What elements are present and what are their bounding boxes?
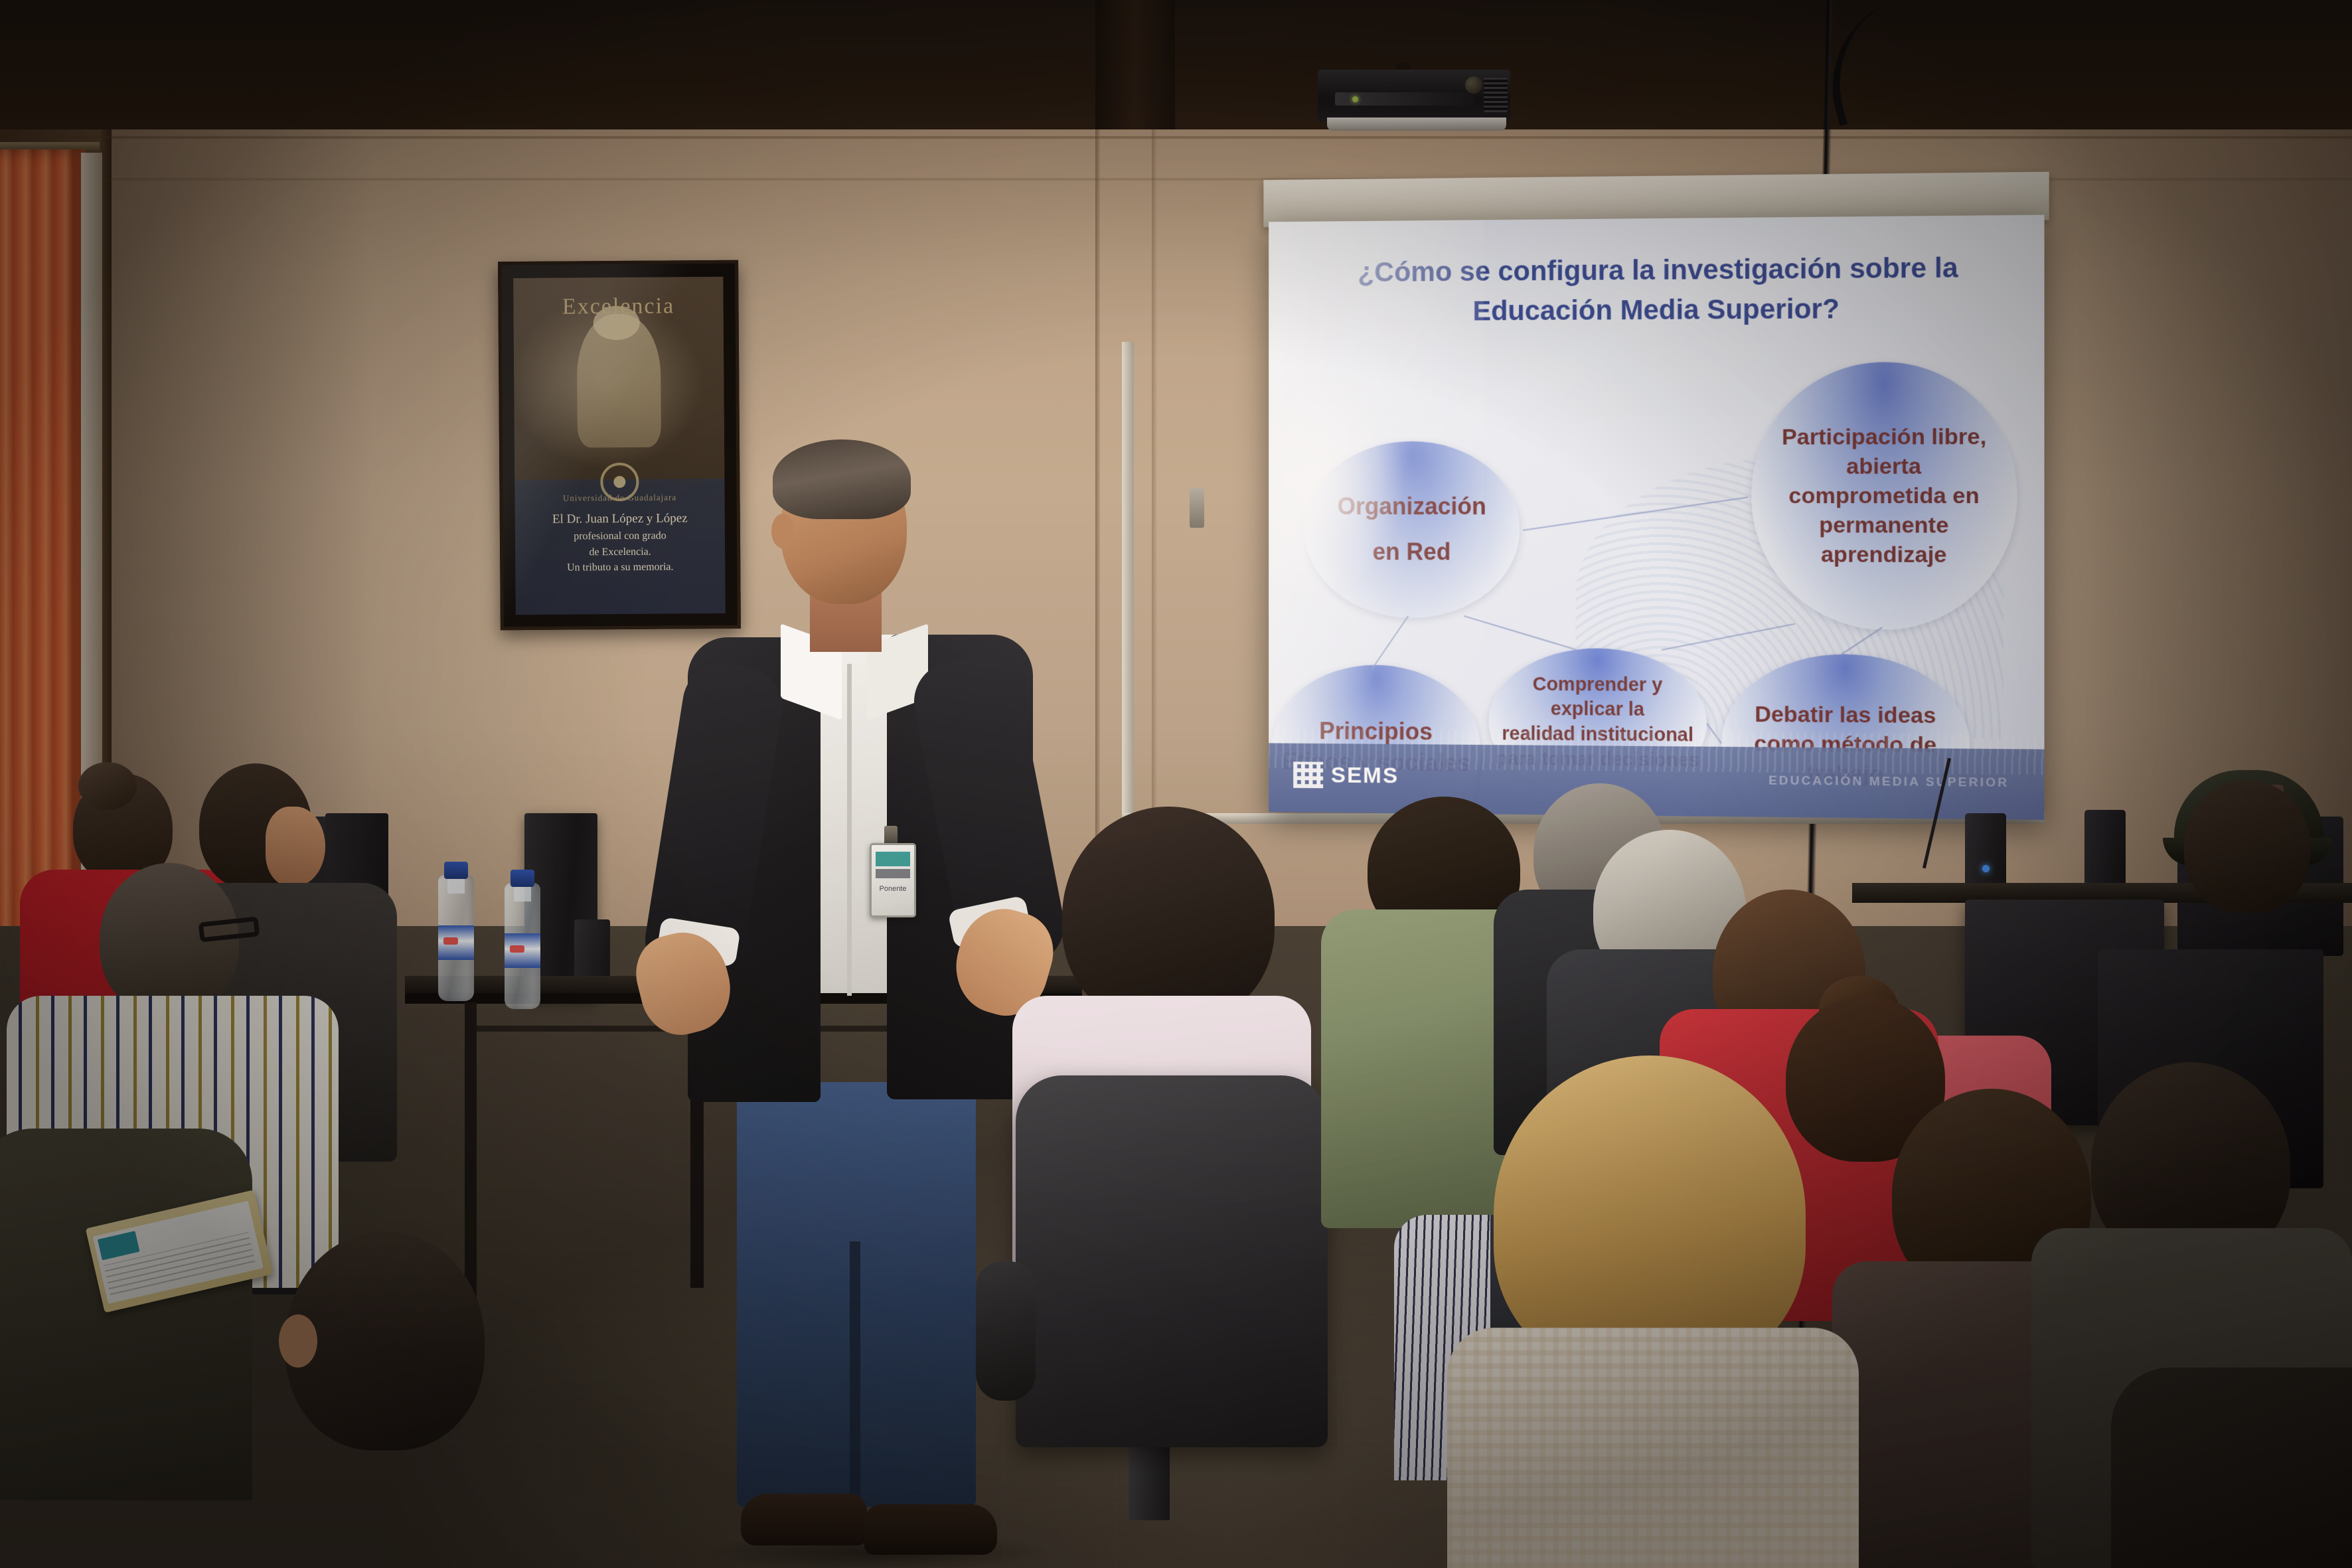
audience-foreground-right (2111, 1368, 2352, 1568)
office-chair-center (1016, 1075, 1328, 1447)
slide-footer-right-text: EDUCACIÓN MEDIA SUPERIOR (1768, 774, 2009, 791)
screen-hotspot (1269, 385, 1405, 602)
ear (279, 1314, 317, 1368)
audience-head-cap (2184, 780, 2310, 913)
presenter-jeans-gap (850, 1241, 860, 1507)
water-bottle (438, 875, 474, 1001)
office-chair-armrest (976, 1261, 1036, 1401)
bottle-cap (510, 870, 534, 887)
projector-lens-icon (1465, 76, 1482, 94)
bottle-label (505, 933, 540, 968)
audience-foreground-left (0, 1129, 252, 1500)
presenter-name-badge: Ponente (870, 843, 916, 917)
sems-wordmark: SEMS (1331, 762, 1399, 789)
water-bottle (505, 883, 540, 1009)
ceiling-projector (1318, 63, 1517, 133)
presenter-ear (771, 514, 794, 548)
audience-head-blonde (1494, 1056, 1806, 1374)
orange-curtain (0, 149, 85, 989)
badge-text: Ponente (872, 885, 914, 893)
projection-screen: ¿Cómo se configura la investigación sobr… (1263, 172, 2049, 828)
audience-face-profile (266, 807, 325, 886)
presenter-shirt-placket (847, 664, 852, 996)
audience-head-center (1062, 807, 1275, 1026)
presenter-hair (773, 439, 911, 519)
badge-color-strip-2 (876, 869, 910, 878)
presenter-shoe-right (864, 1504, 997, 1555)
hair-bun (78, 762, 137, 810)
projector-vent-icon (1484, 78, 1508, 112)
presenter-shoe-left (741, 1494, 867, 1545)
sems-logo: SEMS (1293, 761, 1399, 789)
slide-surface: ¿Cómo se configura la investigación sobr… (1269, 215, 2044, 820)
audience-body-crochet-top (1447, 1328, 1859, 1568)
bottle-cap (444, 862, 468, 879)
projector-power-led-icon (1352, 96, 1358, 102)
bottle-label (438, 925, 474, 960)
projector-base (1327, 118, 1506, 131)
badge-color-strip (876, 852, 910, 866)
conference-room-photo: ¿Cómo se configura la investigación sobr… (0, 0, 2352, 1568)
desk-leg (465, 1002, 477, 1321)
slide-footer-bar: SEMS EDUCACIÓN MEDIA SUPERIOR (1269, 743, 2044, 820)
whiteboard-frame-left (1122, 342, 1134, 820)
whiteboard-latch (1190, 488, 1204, 528)
wall-seam-center-2 (1152, 129, 1156, 926)
sems-mark-icon (1293, 761, 1323, 788)
